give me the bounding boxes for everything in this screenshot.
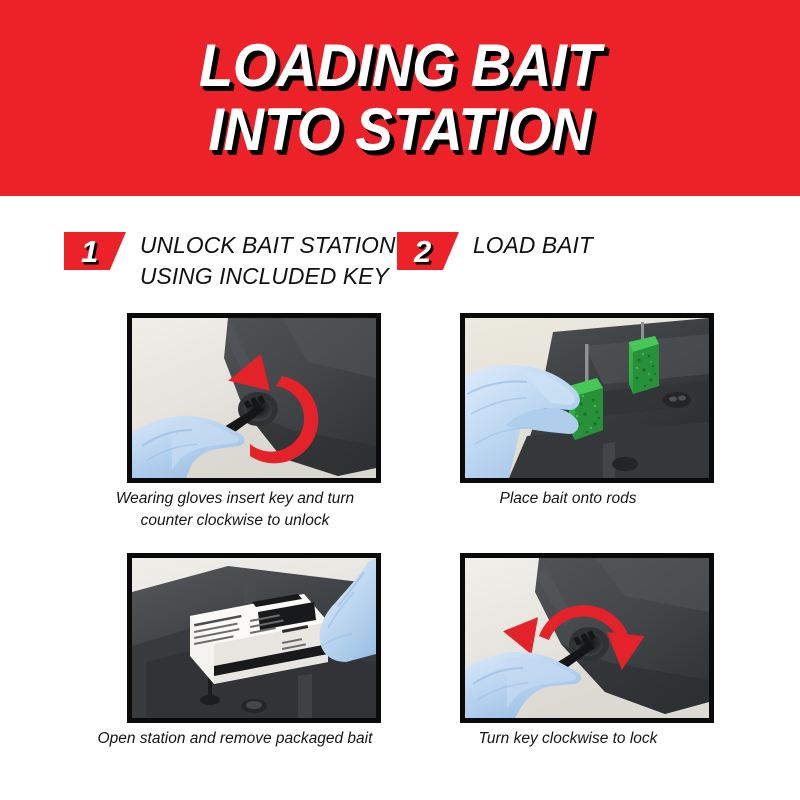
step-3-photo [132, 558, 376, 718]
step-4-caption: Turn key clockwise to lock [393, 728, 743, 750]
photo-3-artwork [132, 558, 376, 718]
step-1-photo-frame [127, 313, 381, 483]
step-1-photo [132, 318, 376, 478]
steps-container: 1 UNLOCK BAIT STATION USING INCLUDED KEY [0, 196, 800, 800]
step-1-caption: Wearing gloves insert key and turn count… [60, 488, 410, 532]
step-1-number: 1 [81, 236, 98, 267]
step-2-number: 2 [414, 236, 431, 267]
photo-2-artwork [465, 318, 709, 478]
step-1-title: UNLOCK BAIT STATION USING INCLUDED KEY [140, 230, 396, 292]
step-2-photo-frame [460, 313, 714, 483]
step-2-photo [465, 318, 709, 478]
bait-block-right [629, 336, 659, 394]
step-2-title: LOAD BAIT [473, 230, 593, 261]
page-title-line-1: LOADING BAIT [199, 35, 601, 97]
header-banner: LOADING BAIT INTO STATION [0, 0, 800, 196]
step-2-caption: Place bait onto rods [393, 488, 743, 510]
photo-4-artwork [465, 558, 709, 718]
page-title-line-2: INTO STATION [209, 99, 592, 161]
step-3-caption: Open station and remove packaged bait [60, 728, 410, 750]
step-4-photo-frame [460, 553, 714, 723]
step-3-photo-frame [127, 553, 381, 723]
step-4-photo [465, 558, 709, 718]
step-1-badge: 1 [64, 232, 126, 270]
step-2-heading: 2 LOAD BAIT [397, 232, 597, 270]
step-1-heading: 1 UNLOCK BAIT STATION USING INCLUDED KEY [64, 232, 403, 292]
photo-1-artwork [132, 318, 376, 478]
step-2-badge: 2 [397, 232, 459, 270]
